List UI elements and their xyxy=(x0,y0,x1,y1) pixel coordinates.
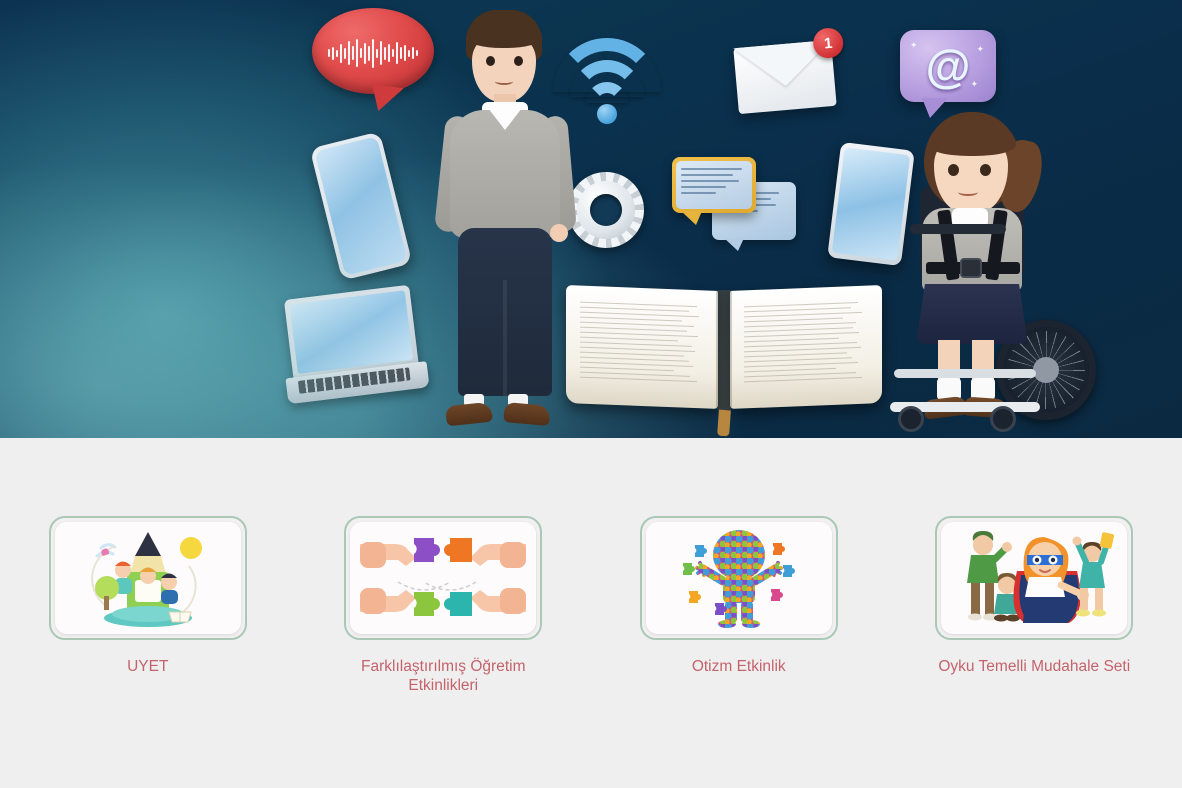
card-label: Oyku Temelli Mudahale Seti xyxy=(938,658,1130,677)
puzzle-hands-icon xyxy=(358,524,528,632)
voice-bubble-icon xyxy=(312,8,434,94)
card-otizm-etkinlik[interactable]: Otizm Etkinlik xyxy=(631,516,846,677)
resource-card-grid: UYET xyxy=(0,516,1182,696)
card-frame[interactable] xyxy=(344,516,542,640)
wifi-dot xyxy=(597,104,617,124)
harness-buckle xyxy=(960,258,982,278)
card-thumbnail xyxy=(350,522,536,634)
card-frame[interactable] xyxy=(935,516,1133,640)
puzzle-child-icon xyxy=(659,525,819,631)
card-label: Otizm Etkinlik xyxy=(692,658,786,677)
card-farklilastirilmis-ogretim-etkinlikleri[interactable]: Farklılaştırılmış Öğretim Etkinlikleri xyxy=(336,516,551,696)
open-book-icon xyxy=(566,282,882,424)
email-envelope-icon: 1 xyxy=(733,40,836,114)
card-oyku-temelli-mudahale-seti[interactable]: Oyku Temelli Mudahale Seti xyxy=(927,516,1142,677)
superhero-teacher-icon xyxy=(949,525,1119,631)
at-sign-bubble-icon: @ ✦ ✦ ✦ xyxy=(900,30,996,102)
hero-illustration: 1 @ ✦ ✦ ✦ xyxy=(0,0,1182,438)
resource-section: UYET xyxy=(0,438,1182,788)
card-thumbnail xyxy=(941,522,1127,634)
card-uyet[interactable]: UYET xyxy=(40,516,255,677)
phone-screen xyxy=(314,136,407,276)
card-frame[interactable] xyxy=(49,516,247,640)
card-thumbnail xyxy=(55,522,241,634)
wheelchair-caster xyxy=(898,406,924,432)
smartphone-icon xyxy=(310,131,413,280)
page-root: 1 @ ✦ ✦ ✦ xyxy=(0,0,1182,788)
wheelchair-caster-2 xyxy=(990,406,1016,432)
book-bookmark xyxy=(717,410,731,437)
hero-banner: 1 @ ✦ ✦ ✦ xyxy=(0,0,1182,438)
children-playhouse-icon xyxy=(73,526,223,630)
laptop-icon xyxy=(276,284,430,409)
at-sign-glyph: @ xyxy=(926,43,971,89)
soundwave-glyph xyxy=(328,38,418,68)
card-label: Farklılaştırılmış Öğretim Etkinlikleri xyxy=(336,658,551,696)
chat-bubbles-icon xyxy=(672,157,756,213)
student-girl-wheelchair xyxy=(872,112,1098,438)
student-boy xyxy=(430,10,580,438)
book-spine xyxy=(716,290,732,410)
bubble-tail xyxy=(368,84,403,114)
card-frame[interactable] xyxy=(640,516,838,640)
card-label: UYET xyxy=(127,658,168,677)
card-thumbnail xyxy=(646,522,832,634)
